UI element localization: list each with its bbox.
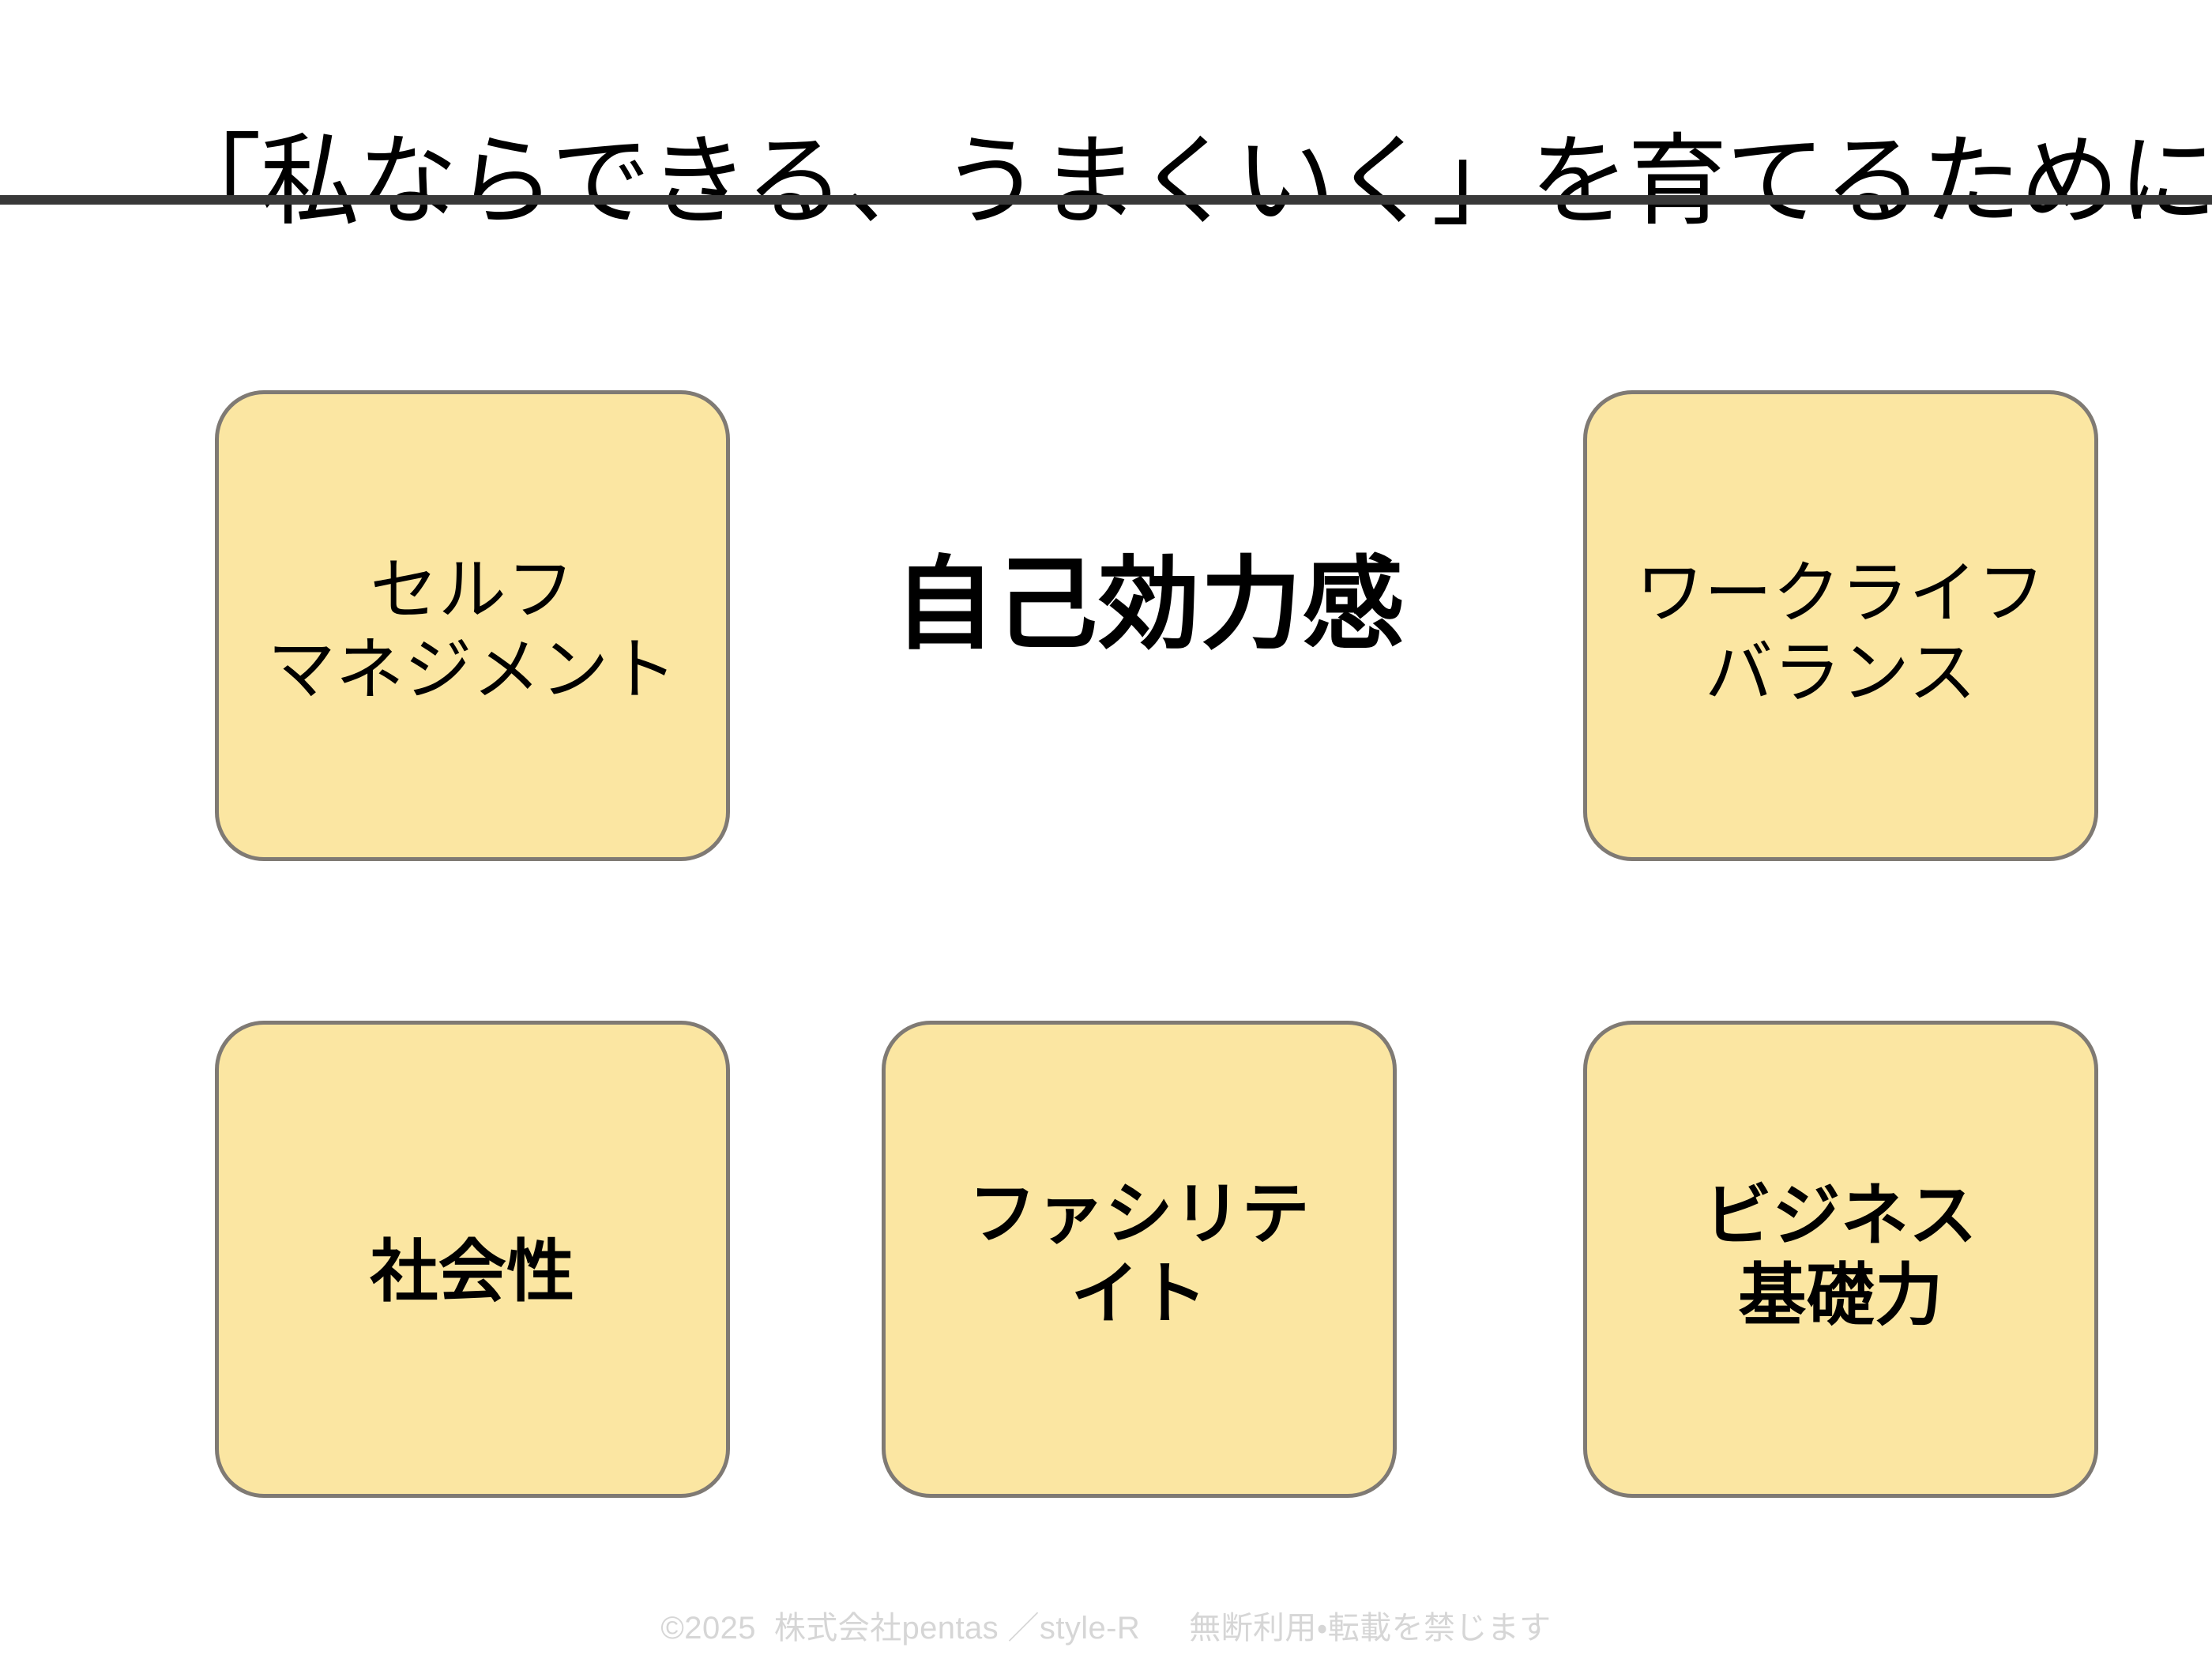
concept-box-label: 社会性	[370, 1232, 574, 1312]
title-divider-rule	[0, 195, 2212, 205]
footer-usage-notice: 無断利用・転載を禁じます	[1189, 1602, 1551, 1648]
concept-box-facilitate[interactable]: ファシリテ イト	[882, 1021, 1397, 1498]
concept-box-business-basic[interactable]: ビジネス 基礎力	[1583, 1021, 2098, 1498]
concept-box-label: ワークライフ バランス	[1636, 554, 2046, 713]
footer-copyright: ©2025 株式会社pentas ／style-R	[660, 1602, 1140, 1648]
slide-canvas: 「私ならできる、うまくいく」を育てるために セルフ マネジメント 自己効力感 ワ…	[0, 0, 2212, 1659]
concept-box-label: ビジネス 基礎力	[1704, 1176, 1977, 1335]
concept-box-label: ファシリテ イト	[969, 1175, 1310, 1334]
slide-footer: ©2025 株式会社pentas ／style-R 無断利用・転載を禁じます	[0, 1602, 2212, 1648]
concept-box-work-life-balance[interactable]: ワークライフ バランス	[1583, 390, 2098, 861]
concept-box-self-management[interactable]: セルフ マネジメント	[215, 390, 730, 861]
page-title: 「私ならできる、うまくいく」を育てるために	[162, 100, 2074, 246]
concept-box-sociality[interactable]: 社会性	[215, 1021, 730, 1498]
concept-box-label: セルフ マネジメント	[268, 551, 678, 709]
center-heading-self-efficacy: 自己効力感	[837, 528, 1461, 662]
